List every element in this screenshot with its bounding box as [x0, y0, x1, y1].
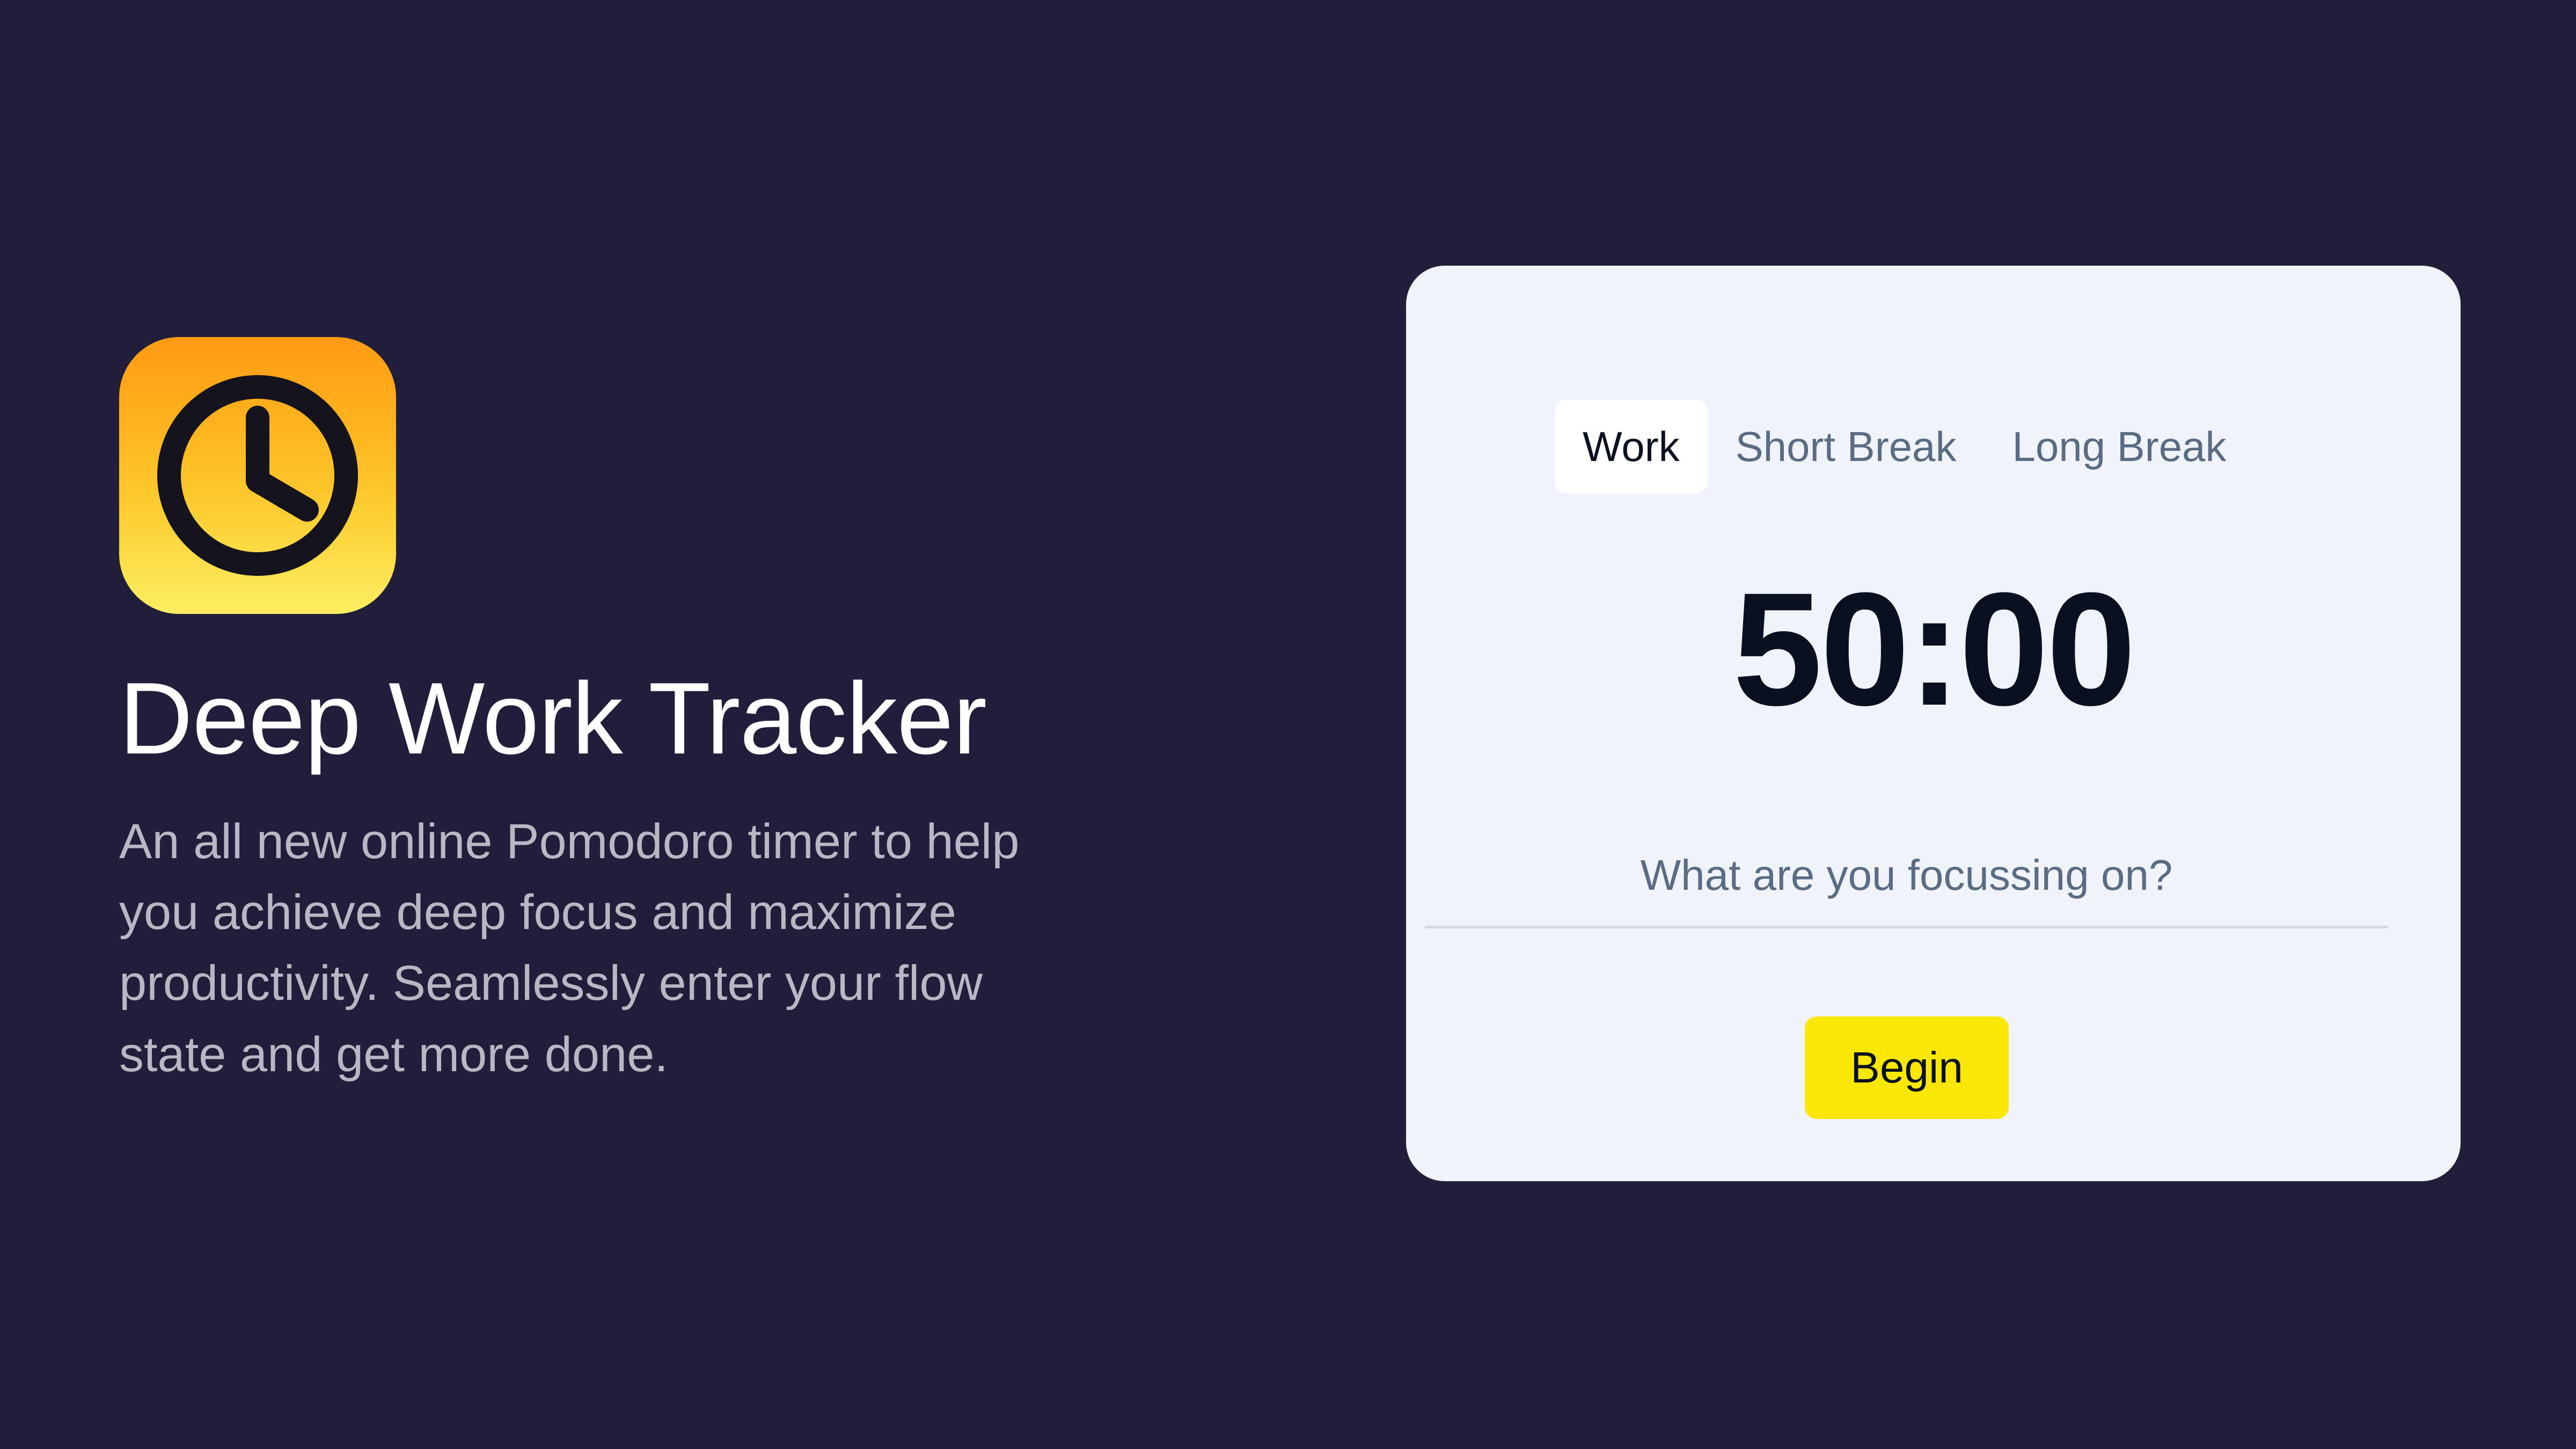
focus-task-input[interactable]	[1425, 851, 2388, 928]
app-root: Deep Work Tracker An all new online Pomo…	[0, 0, 2576, 1449]
tab-long-break[interactable]: Long Break	[1984, 400, 2254, 493]
timer-mode-tabs: Work Short Break Long Break	[1555, 400, 2254, 493]
begin-button[interactable]: Begin	[1805, 1016, 2009, 1119]
page-title: Deep Work Tracker	[119, 665, 1139, 773]
timer-countdown-display: 50:00	[1406, 568, 2461, 729]
tab-work[interactable]: Work	[1555, 400, 1708, 493]
tab-short-break[interactable]: Short Break	[1708, 400, 1985, 493]
pomodoro-timer-card: Work Short Break Long Break 50:00 Begin	[1406, 266, 2461, 1181]
clock-app-icon	[119, 337, 396, 614]
hero-section: Deep Work Tracker An all new online Pomo…	[119, 337, 1139, 1090]
focus-task-field	[1425, 851, 2388, 928]
hero-description: An all new online Pomodoro timer to help…	[119, 806, 1064, 1091]
